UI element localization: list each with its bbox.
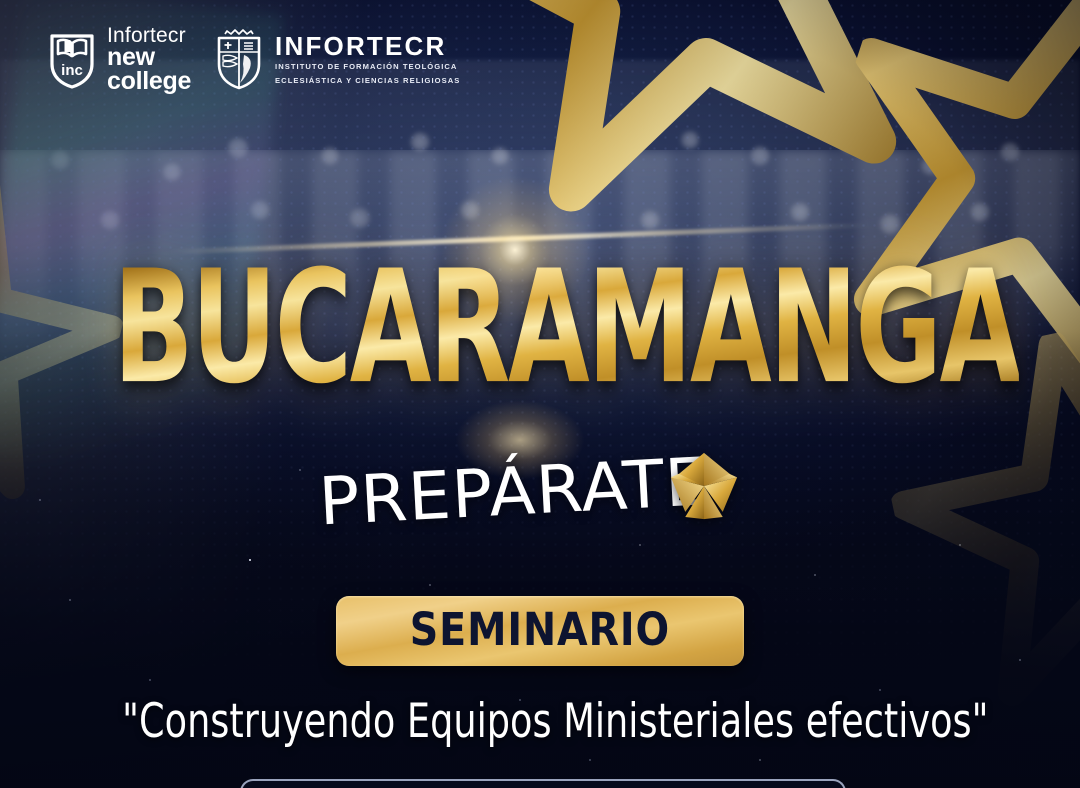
- tagline-block: PREPÁRATE: [0, 452, 1080, 529]
- city-title: BUCARAMANGA: [113, 250, 1019, 406]
- infortecr-subtitle-line2: ECLESIÁSTICA Y CIENCIAS RELIGIOSAS: [275, 76, 460, 87]
- seminario-badge[interactable]: SEMINARIO: [336, 596, 744, 666]
- shield-book-inc-icon: inc: [48, 30, 96, 90]
- infortecr-name: INFORTECR: [275, 33, 460, 59]
- gold-star-icon: [668, 450, 740, 522]
- inc-logo[interactable]: inc Infortecr new college: [48, 26, 191, 93]
- infortecr-wordmark: INFORTECR INSTITUTO DE FORMACIÓN TEOLÓGI…: [275, 33, 460, 87]
- badge-block: SEMINARIO: [0, 596, 1080, 666]
- quote-text: "Construyendo Equipos Ministeriales efec…: [122, 694, 988, 749]
- logo-bar: inc Infortecr new college INFORTECR: [48, 26, 460, 93]
- bottom-info-panel[interactable]: [240, 779, 846, 788]
- hero-title-block: BUCARAMANGA: [0, 262, 1080, 394]
- infortecr-logo[interactable]: INFORTECR INSTITUTO DE FORMACIÓN TEOLÓGI…: [213, 28, 460, 92]
- quote-block: "Construyendo Equipos Ministeriales efec…: [0, 694, 1080, 749]
- event-poster: inc Infortecr new college INFORTECR: [0, 0, 1080, 788]
- infortecr-subtitle-line1: INSTITUTO DE FORMACIÓN TEOLÓGICA: [275, 62, 460, 73]
- svg-text:inc: inc: [61, 62, 83, 79]
- crest-shield-icon: [213, 28, 265, 92]
- seminario-label: SEMINARIO: [410, 607, 670, 653]
- inc-logo-wordmark: Infortecr new college: [107, 26, 191, 93]
- inc-logo-line3: college: [107, 70, 191, 94]
